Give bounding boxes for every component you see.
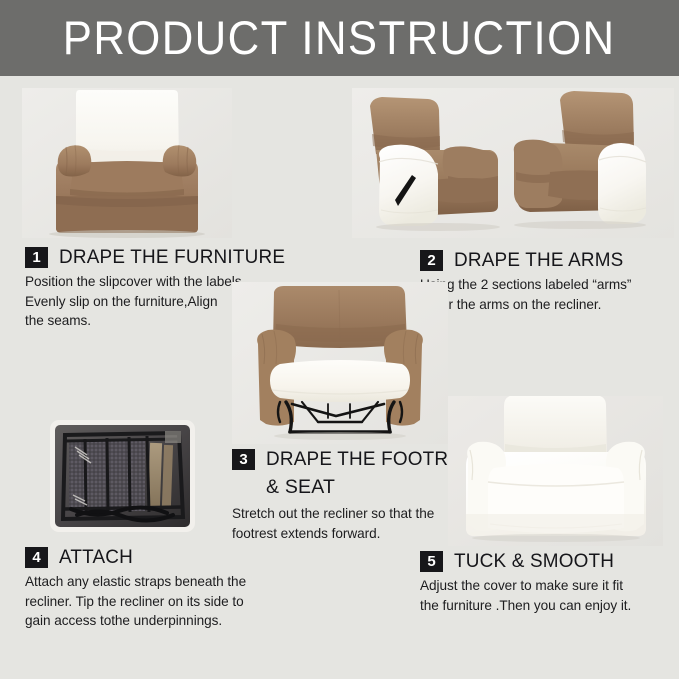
step-2-title: DRAPE THE ARMS xyxy=(454,249,623,271)
step-4-title: ATTACH xyxy=(59,546,133,568)
step-4-body-line: Attach any elastic straps beneath the xyxy=(25,572,315,592)
step-5-text-block: 5 TUCK & SMOOTH Adjust the cover to make… xyxy=(420,550,670,615)
step-4-body-line: recliner. Tip the recliner on its side t… xyxy=(25,592,315,612)
step-4-illustration xyxy=(50,420,195,532)
step-4-body-line: gain access tothe underpinnings. xyxy=(25,611,315,631)
step-5-number-badge: 5 xyxy=(420,551,443,572)
step-1-illustration xyxy=(22,88,232,238)
step-2-number-badge: 2 xyxy=(420,250,443,271)
step-4-body: Attach any elastic straps beneath the re… xyxy=(25,572,315,631)
step-2-text-block: 2 DRAPE THE ARMS Using the 2 sections la… xyxy=(420,249,670,314)
step-2-body: Using the 2 sections labeled “arms” cove… xyxy=(420,275,670,314)
step-5-body: Adjust the cover to make sure it fit the… xyxy=(420,576,670,615)
step-5-body-line: the furniture .Then you can enjoy it. xyxy=(420,596,670,616)
step-4-photo xyxy=(55,425,190,527)
step-4-text-block: 4 ATTACH Attach any elastic straps benea… xyxy=(25,546,315,631)
step-5-heading: 5 TUCK & SMOOTH xyxy=(420,550,670,572)
step-4-number-badge: 4 xyxy=(25,547,48,568)
page-title: PRODUCT INSTRUCTION xyxy=(63,14,616,62)
step-3-illustration xyxy=(232,282,448,444)
header-bar: PRODUCT INSTRUCTION xyxy=(0,0,679,76)
step-2-illustration xyxy=(352,88,674,238)
step-4-heading: 4 ATTACH xyxy=(25,546,315,568)
step-2-body-line: Using the 2 sections labeled “arms” xyxy=(420,275,670,295)
step-5-illustration xyxy=(448,396,663,546)
step-2-heading: 2 DRAPE THE ARMS xyxy=(420,249,670,271)
product-instruction-infographic: PRODUCT INSTRUCTION xyxy=(0,0,679,679)
step-1-title: DRAPE THE FURNITURE xyxy=(59,246,285,268)
step-1-heading: 1 DRAPE THE FURNITURE xyxy=(25,246,305,268)
step-1-number-badge: 1 xyxy=(25,247,48,268)
step-5-body-line: Adjust the cover to make sure it fit xyxy=(420,576,670,596)
step-2-body-line: cover the arms on the recliner. xyxy=(420,295,670,315)
step-3-number-badge: 3 xyxy=(232,449,255,470)
step-5-title: TUCK & SMOOTH xyxy=(454,550,614,572)
